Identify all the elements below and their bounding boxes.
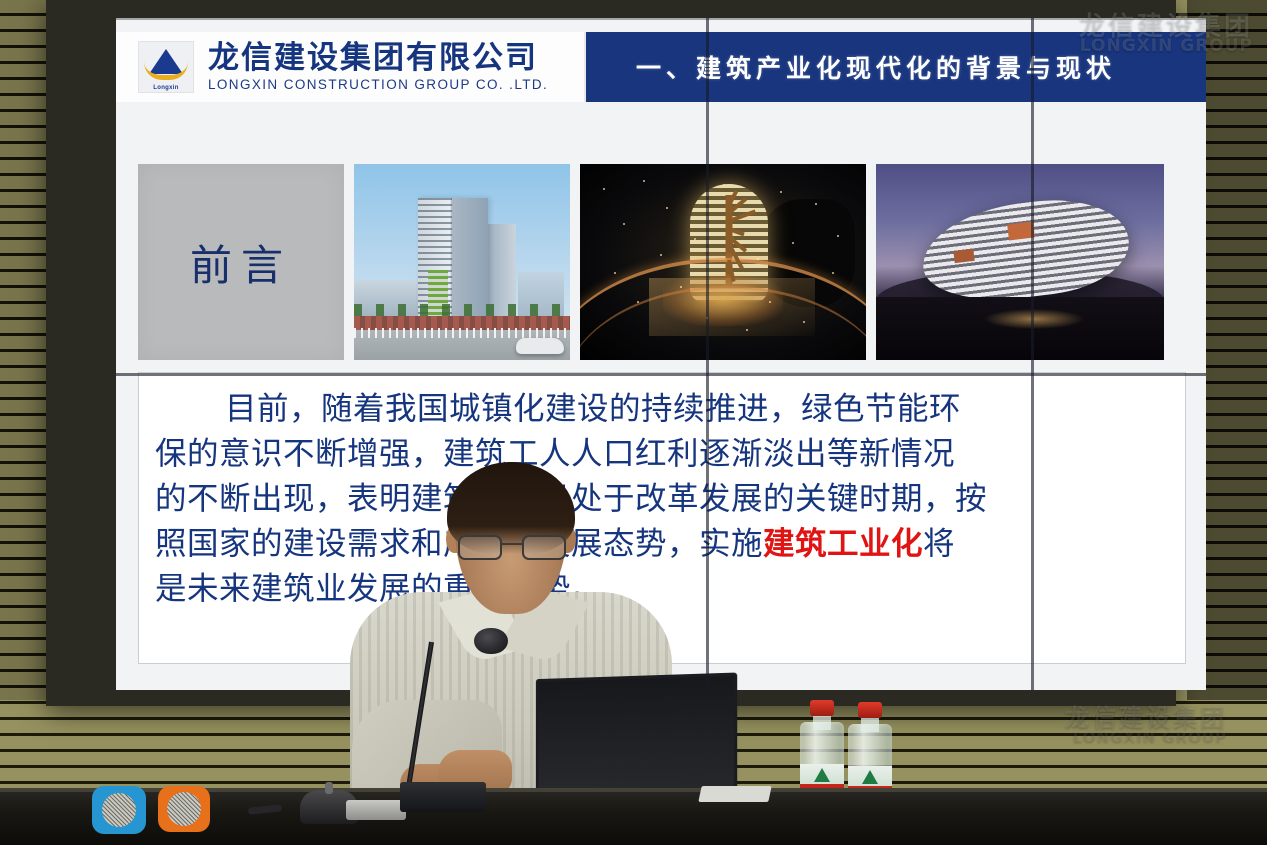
slide-header: Longxin 龙信建设集团有限公司 LONGXIN CONSTRUCTION … — [116, 32, 1206, 102]
bottle1-neck — [813, 714, 831, 730]
body-line-3: 的不断出现，表明建筑产业已处于改革发展的关键时期，按 — [155, 481, 987, 517]
photo-oval-dusk — [876, 164, 1164, 360]
preface-label: 前言 — [190, 232, 292, 293]
photo2-light-point — [623, 223, 625, 225]
photo2-light-point — [706, 317, 708, 319]
logo-arc-shape — [144, 62, 188, 80]
gadget-orange — [158, 786, 210, 832]
photo3-lit-window-1 — [1008, 221, 1036, 240]
paper-sheet — [698, 786, 771, 802]
photo2-light-point — [680, 286, 682, 288]
photo1-fence — [354, 328, 570, 338]
photo2-light-point — [614, 272, 616, 274]
bottle1-mountain-icon — [814, 768, 830, 782]
body-line-4b: 将 — [923, 526, 955, 562]
photo2-light-point — [815, 203, 817, 205]
body-highlight-term: 建筑工业化 — [763, 526, 923, 562]
photo2-light-point — [769, 301, 771, 303]
presentation-slide: Longxin 龙信建设集团有限公司 LONGXIN CONSTRUCTION … — [116, 18, 1206, 690]
preface-box: 前言 — [138, 164, 344, 360]
photo2-light-point — [694, 238, 696, 240]
bottle2-mountain-icon — [862, 770, 878, 784]
slide-body-text: 目前，随着我国城镇化建设的持续推进，绿色节能环 保的意识不断增强，建筑工人人口红… — [139, 373, 1185, 612]
photo3-ground-glow — [985, 309, 1083, 329]
photo2-city-lights — [580, 164, 866, 360]
photo2-light-point — [660, 254, 662, 256]
photo2-light-point — [832, 272, 834, 274]
photo2-light-point — [757, 258, 759, 260]
bottle2-neck — [861, 716, 879, 732]
voice-recorder[interactable] — [400, 782, 486, 812]
bottle1-cap — [810, 700, 834, 716]
photo2-light-point — [637, 301, 639, 303]
photo3-foreground — [876, 297, 1164, 360]
slide-body-textbox: 目前，随着我国城镇化建设的持续推进，绿色节能环 保的意识不断增强，建筑工人人口红… — [138, 372, 1186, 664]
clicker-antenna — [325, 782, 333, 794]
laptop-screen[interactable] — [536, 673, 737, 798]
company-name-cn: 龙信建设集团有限公司 — [208, 42, 548, 75]
microphone-capsule-icon — [474, 628, 508, 654]
bottle2-cap — [858, 702, 882, 718]
photo2-light-point — [746, 329, 748, 331]
photo-aerial-night — [580, 164, 866, 360]
photo2-light-point — [723, 184, 725, 186]
gadget-blue-mesh-icon — [102, 793, 136, 827]
photo2-light-point — [837, 235, 839, 237]
photo2-light-point — [643, 180, 645, 182]
photo2-light-point — [803, 321, 805, 323]
remote-control[interactable] — [346, 800, 406, 820]
video-wall-frame: Longxin 龙信建设集团有限公司 LONGXIN CONSTRUCTION … — [46, 0, 1176, 706]
body-line-5: 是未来建筑业发展的重要趋势。 — [155, 571, 603, 607]
photo-strip: 前言 — [138, 164, 1186, 360]
video-wall-display[interactable]: Longxin 龙信建设集团有限公司 LONGXIN CONSTRUCTION … — [116, 18, 1206, 690]
logo-caption: Longxin — [153, 85, 178, 91]
gadget-blue — [92, 786, 146, 834]
gadget-orange-mesh-icon — [167, 792, 201, 826]
photo2-light-point — [780, 191, 782, 193]
photo-highrise-daytime — [354, 164, 570, 360]
longxin-logo-icon: Longxin — [138, 41, 194, 93]
company-logo-block: Longxin 龙信建设集团有限公司 LONGXIN CONSTRUCTION … — [116, 32, 586, 102]
photo2-light-point — [666, 207, 668, 209]
body-line-2: 保的意识不断增强，建筑工人人口红利逐渐淡出等新情况 — [155, 436, 955, 472]
photo1-car — [516, 338, 564, 354]
photo2-light-point — [603, 188, 605, 190]
slide-title: 一、建筑产业化现代化的背景与现状 — [636, 49, 1116, 85]
company-name-group: 龙信建设集团有限公司 LONGXIN CONSTRUCTION GROUP CO… — [208, 42, 548, 92]
photo1-main-tower — [418, 198, 488, 316]
photo2-light-point — [792, 242, 794, 244]
body-line-1: 目前，随着我国城镇化建设的持续推进，绿色节能环 — [225, 391, 961, 427]
slide-title-bar: 一、建筑产业化现代化的背景与现状 — [586, 32, 1206, 102]
photo1-secondary-tower — [488, 224, 516, 316]
body-line-4a: 照国家的建设需求和产业的发展态势，实施 — [155, 526, 763, 562]
company-name-en: LONGXIN CONSTRUCTION GROUP CO. .LTD. — [208, 77, 548, 92]
